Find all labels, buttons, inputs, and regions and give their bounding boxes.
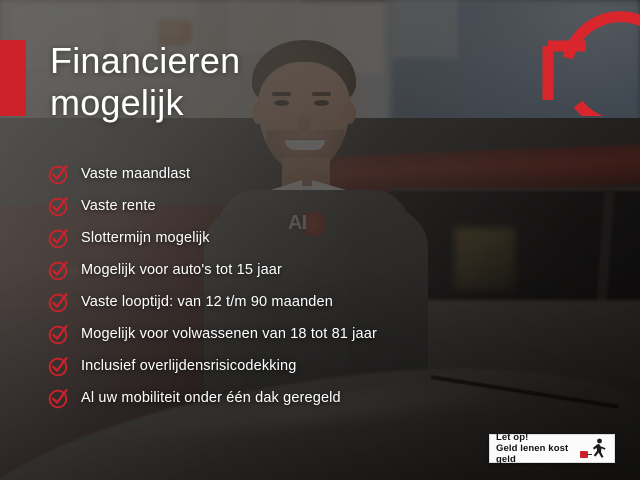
list-item: Vaste maandlast	[48, 158, 608, 190]
list-item-label: Mogelijk voor volwassenen van 18 tot 81 …	[81, 325, 377, 343]
headline-line-2: mogelijk	[50, 82, 470, 124]
headline-line-1: Financieren	[50, 40, 240, 81]
list-item: Vaste rente	[48, 190, 608, 222]
check-circle-icon	[48, 387, 70, 409]
check-circle-icon	[48, 291, 70, 313]
credit-warning-badge: Let op! Geld lenen kost geld	[489, 434, 615, 463]
credit-warning-text: Let op! Geld lenen kost geld	[496, 432, 588, 465]
credit-warning-line-2: Geld lenen kost geld	[496, 443, 577, 465]
feature-list: Vaste maandlastVaste renteSlottermijn mo…	[48, 158, 608, 414]
list-item: Mogelijk voor auto's tot 15 jaar	[48, 254, 608, 286]
page-title: Financieren mogelijk	[50, 40, 470, 124]
red-accent-block	[0, 40, 26, 116]
check-circle-icon	[48, 195, 70, 217]
check-circle-icon	[48, 355, 70, 377]
list-item-label: Mogelijk voor auto's tot 15 jaar	[81, 261, 282, 279]
list-item-label: Vaste looptijd: van 12 t/m 90 maanden	[81, 293, 333, 311]
credit-warning-line-2-row: Geld lenen kost geld	[496, 443, 588, 465]
list-item-label: Slottermijn mogelijk	[81, 229, 210, 247]
check-circle-icon	[48, 163, 70, 185]
list-item-label: Vaste maandlast	[81, 165, 190, 183]
red-circular-arrow-mark	[530, 0, 640, 116]
list-item: Al uw mobiliteit onder één dak geregeld	[48, 382, 608, 414]
list-item: Slottermijn mogelijk	[48, 222, 608, 254]
check-circle-icon	[48, 323, 70, 345]
cart-icon	[580, 451, 588, 458]
list-item-label: Al uw mobiliteit onder één dak geregeld	[81, 389, 341, 407]
list-item: Inclusief overlijdensrisicodekking	[48, 350, 608, 382]
walking-person-pulling-cart-icon	[588, 438, 608, 460]
list-item: Mogelijk voor volwassenen van 18 tot 81 …	[48, 318, 608, 350]
banner-content: Financieren mogelijk Vaste maandlastVast…	[0, 0, 640, 480]
list-item-label: Vaste rente	[81, 197, 156, 215]
check-circle-icon	[48, 227, 70, 249]
promo-banner: AD Financieren mogelijk	[0, 0, 640, 480]
credit-warning-line-1: Let op!	[496, 432, 588, 443]
list-item: Vaste looptijd: van 12 t/m 90 maanden	[48, 286, 608, 318]
list-item-label: Inclusief overlijdensrisicodekking	[81, 357, 296, 375]
check-circle-icon	[48, 259, 70, 281]
